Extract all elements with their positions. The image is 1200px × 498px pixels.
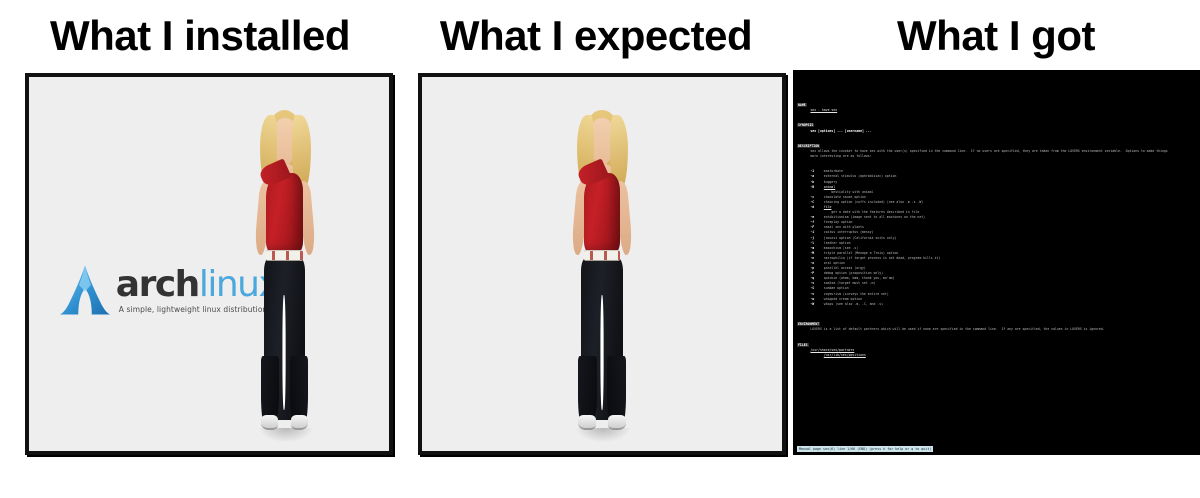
man-option-row: -m masochism (see -s) <box>797 246 858 250</box>
man-option-subdescription: bestiality with animal <box>797 190 873 194</box>
man-option-description: voyeurism (surveys the entire net) <box>824 292 889 296</box>
man-option-row: -o oral option <box>797 261 845 265</box>
man-option-description: parallel access (orgy) <box>824 266 866 270</box>
man-option-row: -v voyeurism (surveys the entire net) <box>797 292 889 296</box>
man-files-path-2: /usr/lib/sex/positions <box>824 353 866 357</box>
man-option-flag: -f <box>810 220 814 224</box>
man-option-description: chaining option (cuffs included) (see al… <box>824 200 923 204</box>
man-option-row: -w whipped cream option <box>797 297 862 301</box>
man-section-description-heading: DESCRIPTION <box>797 144 820 148</box>
photo-frame-installed: archlinux™ A simple, lightweight linux d… <box>25 73 393 455</box>
man-option-description: whips (see also -m, -C, and -s) <box>824 302 883 306</box>
man-option-description: quickie (wham, bam, thank you, ma'am) <box>824 276 895 280</box>
man-option-description: necrophilia (if target process is not de… <box>824 256 941 260</box>
man-option-flag: -o <box>810 261 814 265</box>
man-option-row: -i coitus interruptus (messy) <box>797 230 873 234</box>
man-option-flag: -B <box>810 185 814 189</box>
man-option-description: chocolate sauce option <box>824 195 866 199</box>
man-option-flag: -m <box>810 246 814 250</box>
man-option-row: -f foreplay option <box>797 220 852 224</box>
man-option-subdescription: get a date with the features described i… <box>797 210 919 214</box>
man-option-row: -l leather option <box>797 241 851 245</box>
man-option-row: -W whips (see also -m, -C, and -s) <box>797 302 883 306</box>
man-option-description: sundae option <box>824 286 849 290</box>
man-option-flag: -W <box>810 302 814 306</box>
man-option-flag: -F <box>810 225 814 229</box>
man-option-row: -s sadism (target must set -m) <box>797 281 875 285</box>
man-option-row: -n necrophilia (if target process is not… <box>797 256 940 260</box>
man-option-flag: -n <box>810 256 814 260</box>
terminal-window[interactable]: NAME sex - have sex SYNOPSIS sex [option… <box>793 70 1200 455</box>
man-option-flag: -d <box>810 205 814 209</box>
man-option-flag: -v <box>810 292 814 296</box>
man-options-list: -1 masturbate -a external stimulus (aphr… <box>797 169 940 305</box>
man-option-flag: -M <box>810 251 814 255</box>
man-option-description: debug option (proposition only) <box>824 271 883 275</box>
man-option-description: foreplay option <box>824 220 853 224</box>
man-option-flag: -i <box>810 230 814 234</box>
man-option-row: -P debug option (proposition only) <box>797 271 883 275</box>
arch-triangle-icon <box>58 263 112 317</box>
man-option-row: -1 masturbate <box>797 169 843 173</box>
man-section-name-heading: NAME <box>797 103 807 107</box>
model-figure-expected <box>548 107 656 444</box>
man-option-row: -q quickie (wham, bam, thank you, ma'am) <box>797 276 894 280</box>
man-option-flag: -c <box>810 195 814 199</box>
man-option-flag: -a <box>810 174 814 178</box>
man-option-description: coitus interruptus (messy) <box>824 230 874 234</box>
man-option-description: jacuzzi option (California suits only) <box>824 236 897 240</box>
man-option-description: sadism (target must set -m) <box>824 281 876 285</box>
man-option-description: masturbate <box>824 169 843 173</box>
man-option-description: animal <box>824 185 835 189</box>
man-option-flag: -p <box>810 266 814 270</box>
man-description-line-1: sex allows the invoker to have sex with … <box>810 149 1167 153</box>
arch-word-dark: arch <box>116 264 199 305</box>
less-status-line[interactable]: Manual page sex(6) line 1/66 (END) (pres… <box>797 446 933 452</box>
man-option-row: -B animal <box>797 185 835 189</box>
man-option-description: triple parallel (Menage a Trois) option <box>824 251 899 255</box>
man-option-flag: -P <box>810 271 814 275</box>
meme-canvas: What I installed <box>0 0 1200 498</box>
panel-got: What I got NAME sex - have sex SYNOPSIS … <box>792 0 1200 498</box>
panel-title-expected: What I expected <box>400 0 792 72</box>
man-option-row: -p parallel access (orgy) <box>797 266 866 270</box>
model-figure-installed <box>231 107 339 444</box>
man-option-flag: -b <box>810 180 814 184</box>
man-section-synopsis-heading: SYNOPSIS <box>797 123 814 127</box>
man-option-row: -C chaining option (cuffs included) (see… <box>797 200 923 204</box>
man-option-flag: -S <box>810 286 814 290</box>
man-option-row: -M triple parallel (Menage a Trois) opti… <box>797 251 898 255</box>
man-synopsis-body: sex [options] ... [username] ... <box>810 129 871 133</box>
man-name-body: sex - have sex <box>810 108 837 112</box>
man-option-row: -d file <box>797 205 831 209</box>
man-section-environment-heading: ENVIRONMENT <box>797 322 820 326</box>
man-option-description: whipped cream option <box>824 297 862 301</box>
panel-title-installed: What I installed <box>0 0 400 72</box>
man-files-path-1: /usr/share/sex/partners <box>810 348 854 352</box>
man-option-row: -b buggery <box>797 180 837 184</box>
man-section-files-heading: FILES <box>797 343 809 347</box>
man-option-flag: -j <box>810 236 814 240</box>
man-option-row: -S sundae option <box>797 286 849 290</box>
panel-expected: What I expected <box>400 0 792 498</box>
man-option-row: -e exhibitionism (image sent to all mach… <box>797 215 925 219</box>
man-option-description: nasal sex with plants <box>824 225 864 229</box>
man-option-description: external stimulus (aphrodisiac) option <box>824 174 897 178</box>
man-option-flag: -C <box>810 200 814 204</box>
panel-installed: What I installed <box>0 0 400 498</box>
man-option-description: oral option <box>824 261 845 265</box>
man-option-row: -a external stimulus (aphrodisiac) optio… <box>797 174 896 178</box>
man-option-description: leather option <box>824 241 851 245</box>
man-option-row: -F nasal sex with plants <box>797 225 864 229</box>
man-option-flag: -l <box>810 241 814 245</box>
man-option-flag: -w <box>810 297 814 301</box>
man-option-row: -c chocolate sauce option <box>797 195 866 199</box>
man-option-description: exhibitionism (image sent to all machine… <box>824 215 925 219</box>
terminal-manpage-content: NAME sex - have sex SYNOPSIS sex [option… <box>797 98 1196 441</box>
man-option-flag: -s <box>810 281 814 285</box>
man-option-flag: -q <box>810 276 814 280</box>
man-description-line-2: more interesting are as follows: <box>810 154 871 158</box>
photo-frame-expected <box>418 73 786 455</box>
panel-title-got: What I got <box>792 0 1200 72</box>
man-option-description: file <box>824 205 832 209</box>
man-option-row: -j jacuzzi option (California suits only… <box>797 236 896 240</box>
man-environment-body: LOVERS is a list of default partners whi… <box>810 327 1104 331</box>
man-option-description: masochism (see -s) <box>824 246 858 250</box>
man-option-flag: -e <box>810 215 814 219</box>
man-option-flag: -1 <box>810 169 814 173</box>
man-option-description: buggery <box>824 180 837 184</box>
